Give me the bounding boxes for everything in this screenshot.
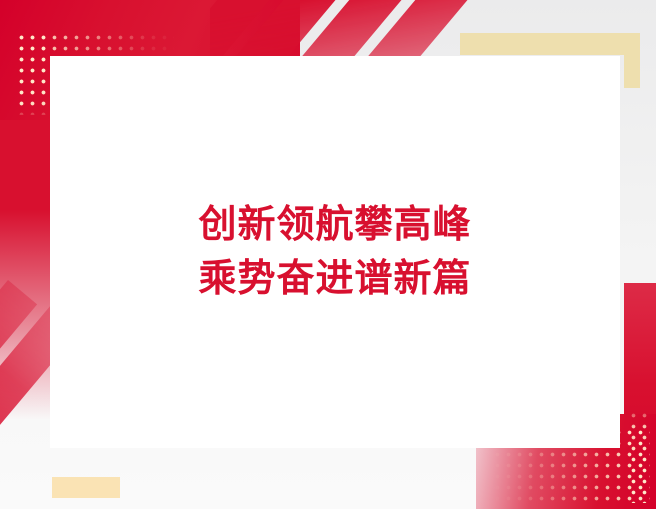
bottom-right-dot-grid-column (626, 408, 650, 503)
gold-corner-bracket-horizontal (460, 33, 640, 55)
presentation-slide: 创新领航攀高峰 乘势奋进谱新篇 (0, 0, 656, 509)
top-left-dot-grid-column (14, 30, 48, 115)
content-card: 创新领航攀高峰 乘势奋进谱新篇 (50, 56, 620, 448)
gold-chip-accent (52, 477, 120, 498)
title-line-1: 创新领航攀高峰 (198, 198, 471, 252)
slide-title: 创新领航攀高峰 乘势奋进谱新篇 (198, 198, 471, 306)
title-line-2: 乘势奋进谱新篇 (198, 252, 471, 306)
gold-corner-bracket-vertical (624, 33, 640, 88)
